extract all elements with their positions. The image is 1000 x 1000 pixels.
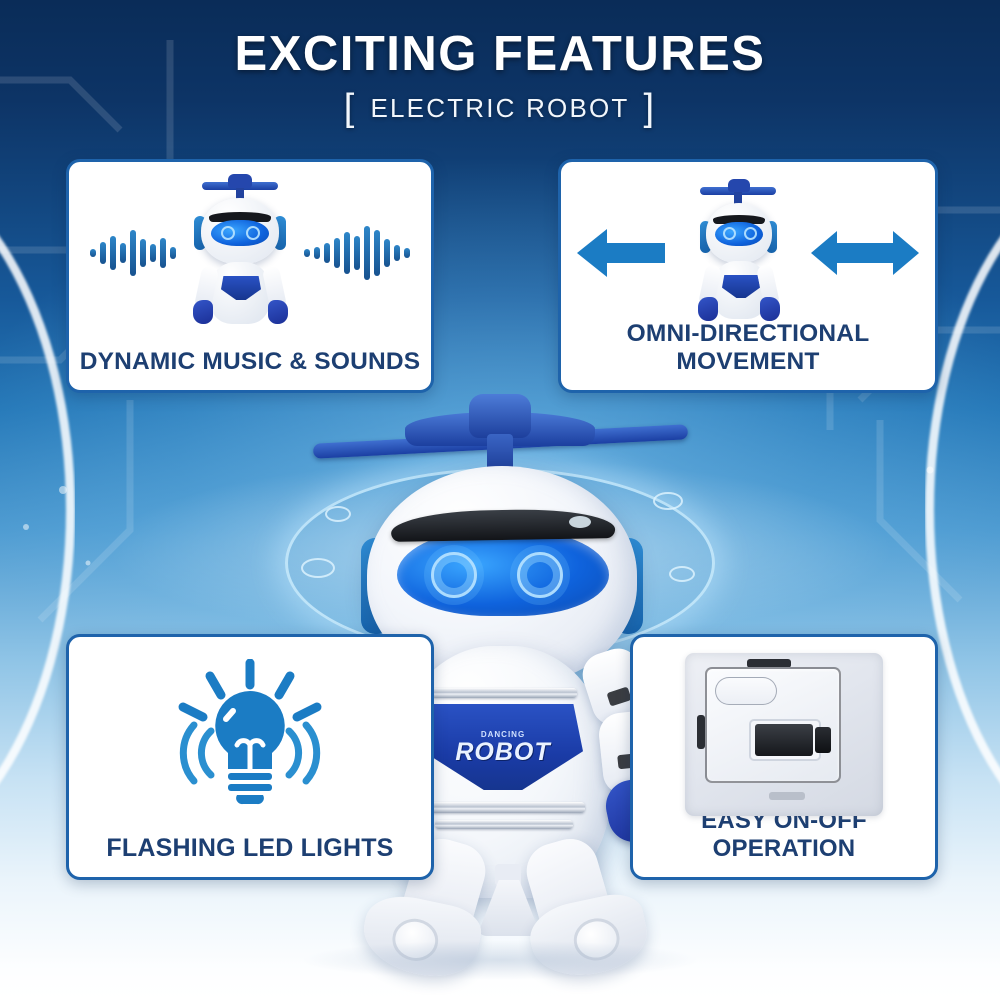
wave-bar [344, 232, 350, 274]
header: EXCITING FEATURES [ ELECTRIC ROBOT ] [0, 0, 1000, 127]
bubble-icon [325, 506, 351, 522]
chest-chrome-trim-bottom2 [435, 820, 573, 829]
feature-label-dynamic-music: DYNAMIC MUSIC & SOUNDS [69, 348, 431, 390]
wave-bar [100, 242, 106, 264]
feature-card-flashing-led[interactable]: FLASHING LED LIGHTS [66, 634, 434, 880]
feature-art-dynamic-music [69, 162, 431, 344]
wave-bar [120, 243, 126, 263]
wave-bar [394, 245, 400, 261]
bubble-icon [301, 558, 335, 578]
robot-ground-shadow [300, 940, 700, 980]
wave-bar [354, 236, 360, 270]
feature-label-flashing-led: FLASHING LED LIGHTS [69, 834, 431, 877]
arrow-left-icon [573, 223, 669, 283]
feature-art-easy-on-off [633, 637, 935, 831]
bubble-icon [653, 492, 683, 510]
wave-bar [130, 230, 136, 276]
feature-card-easy-on-off[interactable]: EASY ON-OFF OPERATION [630, 634, 938, 880]
subtitle-row: [ ELECTRIC ROBOT ] [0, 89, 1000, 127]
wave-bar [384, 239, 390, 267]
bracket-close-icon: ] [644, 89, 657, 127]
wave-bar [304, 249, 310, 257]
feature-card-dynamic-music[interactable]: DYNAMIC MUSIC & SOUNDS [66, 159, 434, 393]
wave-bar [364, 226, 370, 280]
chest-chrome-trim-bottom [423, 802, 585, 813]
robot-thumbnail [680, 181, 796, 325]
wave-bar [314, 247, 320, 259]
chest-chrome-trim-top [431, 688, 577, 698]
wave-bar [160, 238, 166, 268]
wave-bar [140, 239, 146, 267]
feature-art-omni-directional [561, 162, 935, 344]
chest-badge-text: ROBOT [455, 740, 550, 765]
bracket-open-icon: [ [344, 89, 357, 127]
wave-bar [334, 238, 340, 268]
eye-panel [397, 530, 609, 616]
promo-banner: EXCITING FEATURES [ ELECTRIC ROBOT ] DAN… [0, 0, 1000, 1000]
arrow-left-right-icon [807, 223, 923, 283]
wave-bar [324, 243, 330, 263]
left-eye-icon [431, 552, 477, 598]
subtitle: ELECTRIC ROBOT [370, 93, 629, 124]
right-eye-icon [517, 552, 563, 598]
lightbulb-icon [163, 659, 338, 809]
feature-art-flashing-led [69, 637, 431, 831]
wave-bar [90, 249, 96, 257]
bubble-icon [669, 566, 695, 582]
wave-bar [150, 244, 156, 262]
feature-card-omni-directional[interactable]: OMNI-DIRECTIONAL MOVEMENT [558, 159, 938, 393]
visor-sensor-dot [569, 516, 591, 528]
left-arc-decoration [0, 150, 75, 870]
sound-wave-icon-left [90, 230, 176, 276]
wave-bar [110, 236, 116, 270]
sound-wave-icon-right [304, 226, 410, 280]
battery-switch-panel-icon [685, 653, 883, 816]
wave-bar [404, 248, 410, 258]
page-title: EXCITING FEATURES [0, 26, 1000, 82]
robot-thumbnail [176, 178, 304, 328]
wave-bar [374, 230, 380, 276]
propeller-hub [469, 394, 531, 438]
